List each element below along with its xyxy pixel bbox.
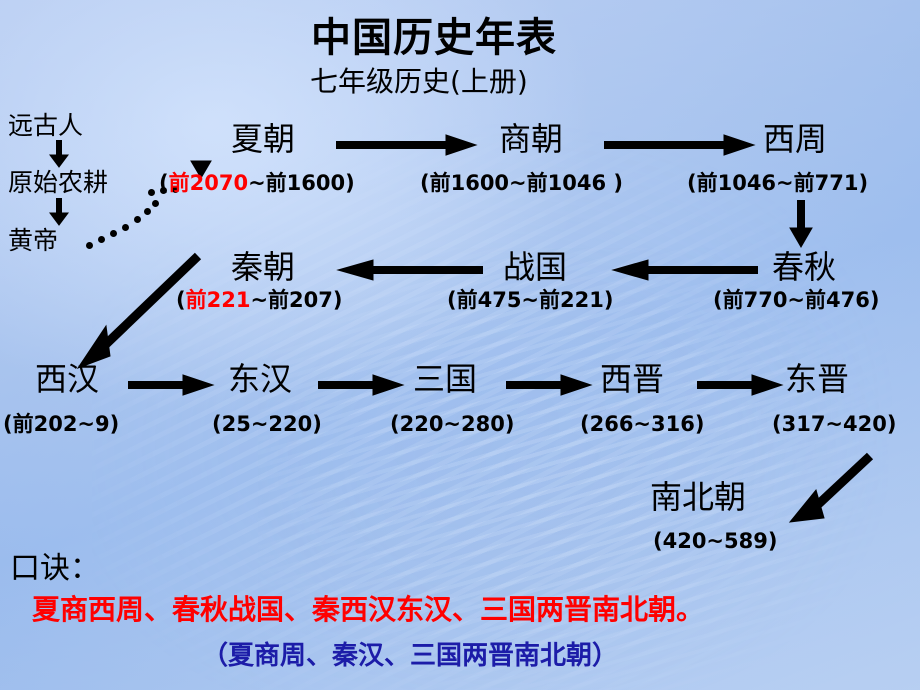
dotted-connector-dot bbox=[148, 189, 155, 196]
era-sanguo-date: (220~280) bbox=[390, 414, 514, 435]
mnemonic-line-primary: 夏商西周、春秋战国、秦西汉东汉、三国两晋南北朝。 bbox=[32, 596, 704, 624]
dotted-connector-dot bbox=[86, 242, 93, 249]
down-arrow-farming-to-huangdi bbox=[48, 198, 70, 226]
background-glow bbox=[0, 0, 598, 414]
dotted-connector-dot bbox=[144, 208, 151, 215]
arrow-shang-to-xizhou bbox=[604, 133, 754, 159]
arrow-xihan-to-donghan bbox=[128, 373, 213, 399]
era-donghan-date: (25~220) bbox=[212, 414, 322, 435]
era-dongjin-date: (317~420) bbox=[772, 414, 896, 435]
era-shang-date: (前1600~前1046 ) bbox=[420, 173, 623, 194]
era-xihan: 西汉 bbox=[35, 363, 99, 395]
mnemonic-line-secondary: （夏商周、秦汉、三国两晋南北朝） bbox=[202, 643, 618, 669]
era-xia-date-end: ~前1600) bbox=[248, 171, 355, 195]
era-nanbeichao-date: (420~589) bbox=[653, 531, 777, 552]
page-subtitle: 七年级历史(上册) bbox=[310, 68, 528, 96]
arrow-sanguo-to-xijin bbox=[506, 373, 591, 399]
dotted-connector-dot bbox=[122, 224, 129, 231]
prehistory-item-primitive-farming: 原始农耕 bbox=[8, 170, 108, 195]
era-xia-date-start: 前2070 bbox=[169, 171, 248, 195]
arrow-zhanguo-to-qin bbox=[338, 258, 483, 284]
era-chunqiu: 春秋 bbox=[772, 251, 836, 283]
era-qin-date-start: 前221 bbox=[186, 288, 251, 312]
era-donghan: 东汉 bbox=[228, 363, 292, 395]
arrow-qin-to-xihan bbox=[70, 250, 210, 375]
background-vignette bbox=[0, 0, 920, 690]
era-qin: 秦朝 bbox=[231, 251, 295, 283]
era-xizhou-date: (前1046~前771) bbox=[687, 173, 868, 194]
era-dongjin: 东晋 bbox=[785, 363, 849, 395]
era-shang: 商朝 bbox=[499, 123, 563, 155]
era-xijin: 西晋 bbox=[600, 363, 664, 395]
arrow-xijin-to-dongjin bbox=[697, 373, 782, 399]
slide-canvas: 中国历史年表 七年级历史(上册) 远古人 原始农耕 黄帝 夏朝 (前2070~前… bbox=[0, 0, 920, 690]
era-xia-date-open: ( bbox=[159, 171, 169, 195]
arrow-chunqiu-to-zhanguo bbox=[613, 258, 758, 284]
arrow-donghan-to-sanguo bbox=[318, 373, 403, 399]
prehistory-item-ancient-human: 远古人 bbox=[8, 113, 83, 138]
era-xijin-date: (266~316) bbox=[580, 414, 704, 435]
arrow-dongjin-to-nanbeichao bbox=[780, 450, 890, 540]
page-title: 中国历史年表 bbox=[311, 18, 557, 58]
era-xia-date: (前2070~前1600) bbox=[159, 173, 355, 194]
era-qin-date-end: ~前207) bbox=[250, 288, 342, 312]
background-artwork bbox=[0, 0, 920, 690]
dotted-connector-dot bbox=[152, 200, 159, 207]
era-sanguo: 三国 bbox=[413, 363, 477, 395]
era-nanbeichao: 南北朝 bbox=[650, 481, 746, 513]
arrow-xia-to-shang bbox=[336, 133, 476, 159]
era-xizhou: 西周 bbox=[763, 123, 827, 155]
mnemonic-label: 口诀： bbox=[10, 554, 100, 584]
era-zhanguo: 战国 bbox=[503, 251, 567, 283]
dotted-connector-dot bbox=[134, 216, 141, 223]
era-qin-date: (前221~前207) bbox=[176, 290, 342, 311]
era-zhanguo-date: (前475~前221) bbox=[447, 290, 613, 311]
prehistory-item-huangdi: 黄帝 bbox=[8, 228, 58, 253]
era-xia: 夏朝 bbox=[231, 123, 295, 155]
arrow-xizhou-to-chunqiu bbox=[788, 200, 814, 248]
dotted-connector-dot bbox=[98, 236, 105, 243]
era-qin-date-open: ( bbox=[176, 288, 186, 312]
dotted-connector-dot bbox=[110, 230, 117, 237]
down-arrow-ancient-to-farming bbox=[48, 140, 70, 168]
era-xihan-date: (前202~9) bbox=[3, 414, 119, 435]
era-chunqiu-date: (前770~前476) bbox=[713, 290, 879, 311]
